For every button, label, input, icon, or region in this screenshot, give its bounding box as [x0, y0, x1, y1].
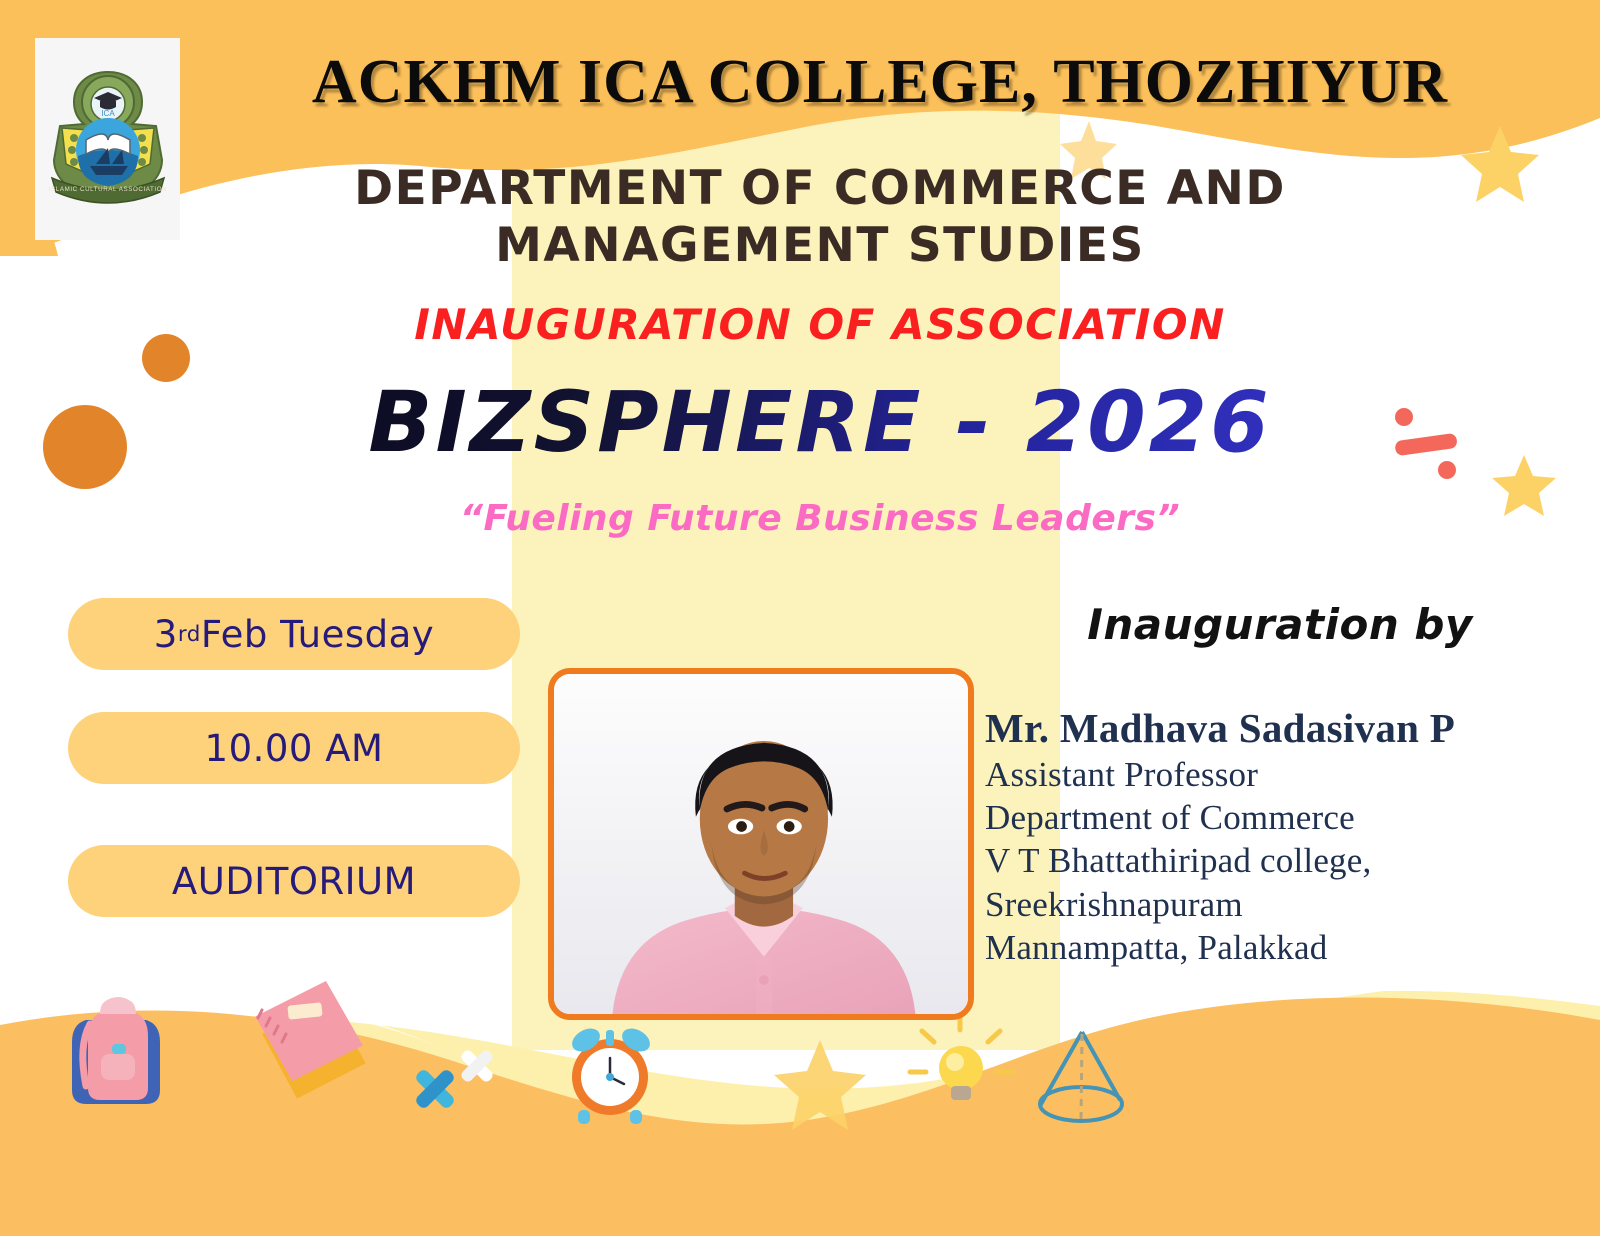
guest-location-1: Sreekrishnapuram: [985, 883, 1585, 926]
department-line-1: DEPARTMENT OF COMMERCE AND: [260, 160, 1380, 217]
department-line-2: MANAGEMENT STUDIES: [260, 217, 1380, 274]
logo-ribbon-text: ISLAMIC CULTURAL ASSOCIATION: [48, 186, 166, 193]
guest-designation: Assistant Professor: [985, 753, 1585, 796]
event-title: BIZSPHERE - 2026: [260, 373, 1380, 471]
event-tagline: “Fueling Future Business Leaders”: [260, 498, 1380, 539]
svg-text:ICA: ICA: [101, 109, 115, 118]
inauguration-of-association-label: INAUGURATION OF ASSOCIATION: [260, 300, 1380, 349]
page-title: ACKHM ICA COLLEGE, THOZHIYUR: [200, 47, 1560, 118]
circle-small-icon: [142, 334, 190, 382]
circle-large-icon: [43, 405, 127, 489]
guest-photo-frame: [548, 668, 974, 1020]
college-crest-icon: ICA ISLAMIC CULTURAL ASSOCIATION: [44, 64, 172, 214]
guest-department: Department of Commerce: [985, 796, 1585, 839]
event-date-rest: Feb Tuesday: [201, 613, 434, 656]
guest-name: Mr. Madhava Sadasivan P: [985, 705, 1585, 753]
guest-institution: V T Bhattathiripad college,: [985, 839, 1585, 882]
event-date-badge: 3rd Feb Tuesday: [68, 598, 520, 670]
event-date-day: 3: [154, 613, 178, 656]
guest-portrait-photo: [554, 674, 968, 1014]
event-time-badge: 10.00 AM: [68, 712, 520, 784]
guest-location-2: Mannampatta, Palakkad: [985, 926, 1585, 969]
inauguration-by-heading: Inauguration by: [1000, 600, 1560, 649]
department-heading: DEPARTMENT OF COMMERCE AND MANAGEMENT ST…: [260, 160, 1380, 275]
guest-details: Mr. Madhava Sadasivan P Assistant Profes…: [985, 705, 1585, 970]
event-poster: ICA ISLAMIC CULTURAL ASSOCIATION: [0, 0, 1600, 1236]
college-logo: ICA ISLAMIC CULTURAL ASSOCIATION: [35, 38, 180, 240]
event-venue-badge: AUDITORIUM: [68, 845, 520, 917]
event-date-ordinal: rd: [178, 622, 201, 647]
